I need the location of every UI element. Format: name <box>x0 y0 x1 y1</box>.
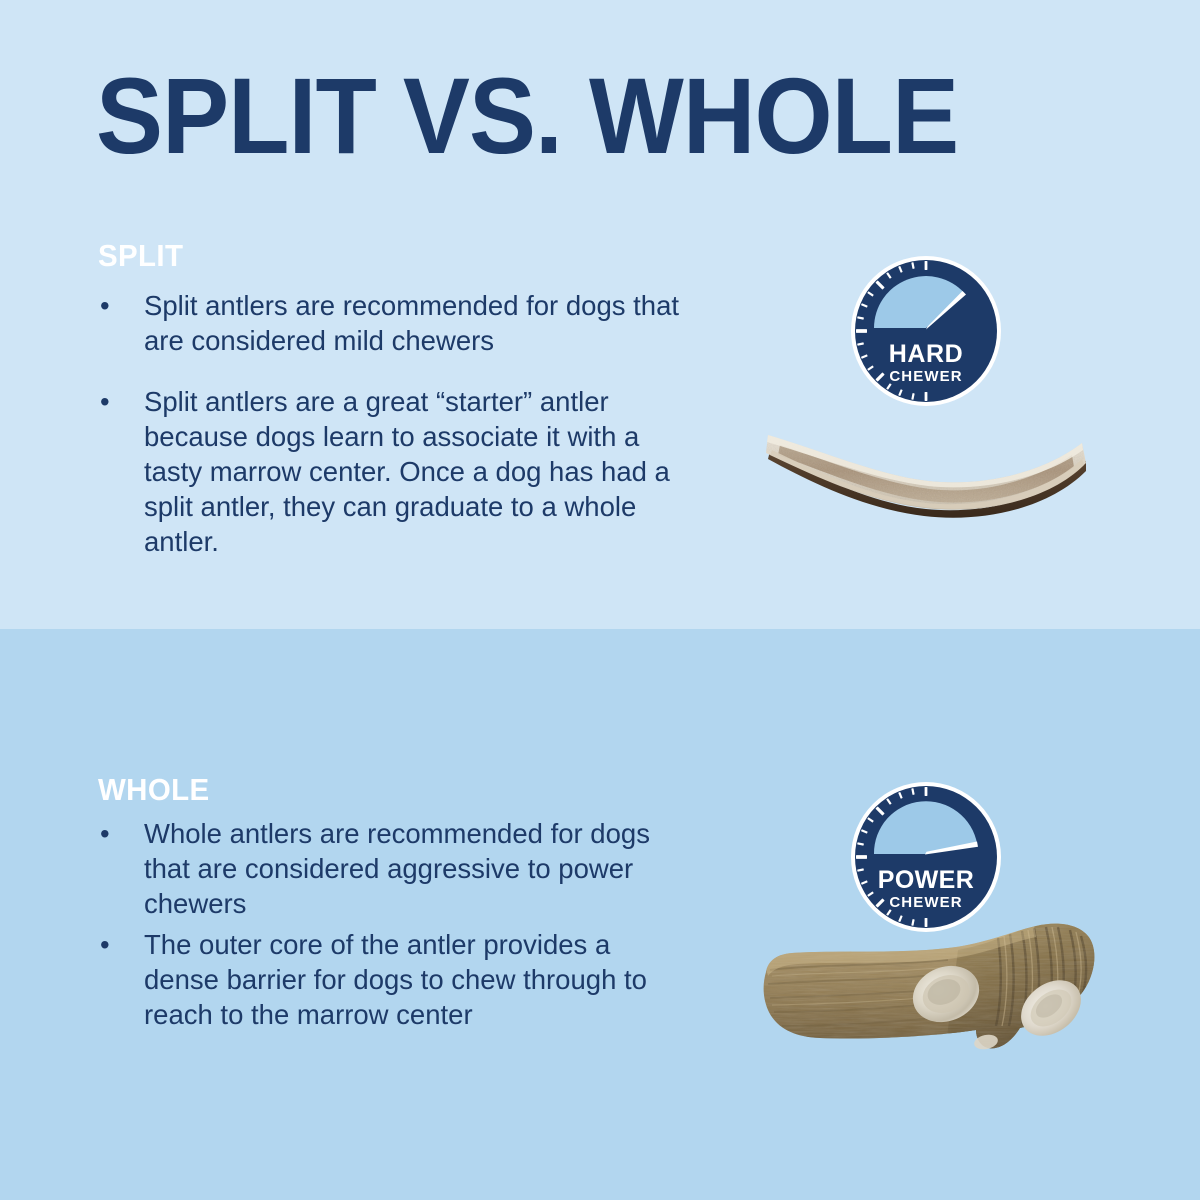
badge-primary-label: POWER <box>878 866 974 894</box>
infographic-page: SPLIT VS. WHOLE SPLIT • Split antlers ar… <box>0 0 1200 1200</box>
list-item-text: The outer core of the antler provides a … <box>144 929 647 1030</box>
badge-primary-label: HARD <box>889 340 964 368</box>
split-antler-photo <box>758 415 1090 533</box>
whole-bullet-list: • Whole antlers are recommended for dogs… <box>96 816 676 1038</box>
split-section-heading: SPLIT <box>98 238 183 274</box>
list-item: • Whole antlers are recommended for dogs… <box>96 816 676 921</box>
list-item-text: Whole antlers are recommended for dogs t… <box>144 818 650 919</box>
split-bullet-list: • Split antlers are recommended for dogs… <box>96 288 696 585</box>
list-item-text: Split antlers are recommended for dogs t… <box>144 290 679 356</box>
list-item-text: Split antlers are a great “starter” antl… <box>144 386 670 557</box>
bullet-marker-icon: • <box>100 927 110 962</box>
hard-chewer-badge: HARD CHEWER <box>850 255 1002 407</box>
page-title: SPLIT VS. WHOLE <box>96 62 1026 170</box>
badge-secondary-label: CHEWER <box>889 894 962 911</box>
bullet-marker-icon: • <box>100 288 110 323</box>
list-item: • Split antlers are a great “starter” an… <box>96 384 696 559</box>
whole-antler-photo <box>748 910 1100 1060</box>
bullet-marker-icon: • <box>100 816 110 851</box>
whole-section-heading: WHOLE <box>98 772 210 808</box>
list-item: • The outer core of the antler provides … <box>96 927 676 1032</box>
badge-secondary-label: CHEWER <box>889 368 962 385</box>
bullet-marker-icon: • <box>100 384 110 419</box>
list-item: • Split antlers are recommended for dogs… <box>96 288 696 358</box>
